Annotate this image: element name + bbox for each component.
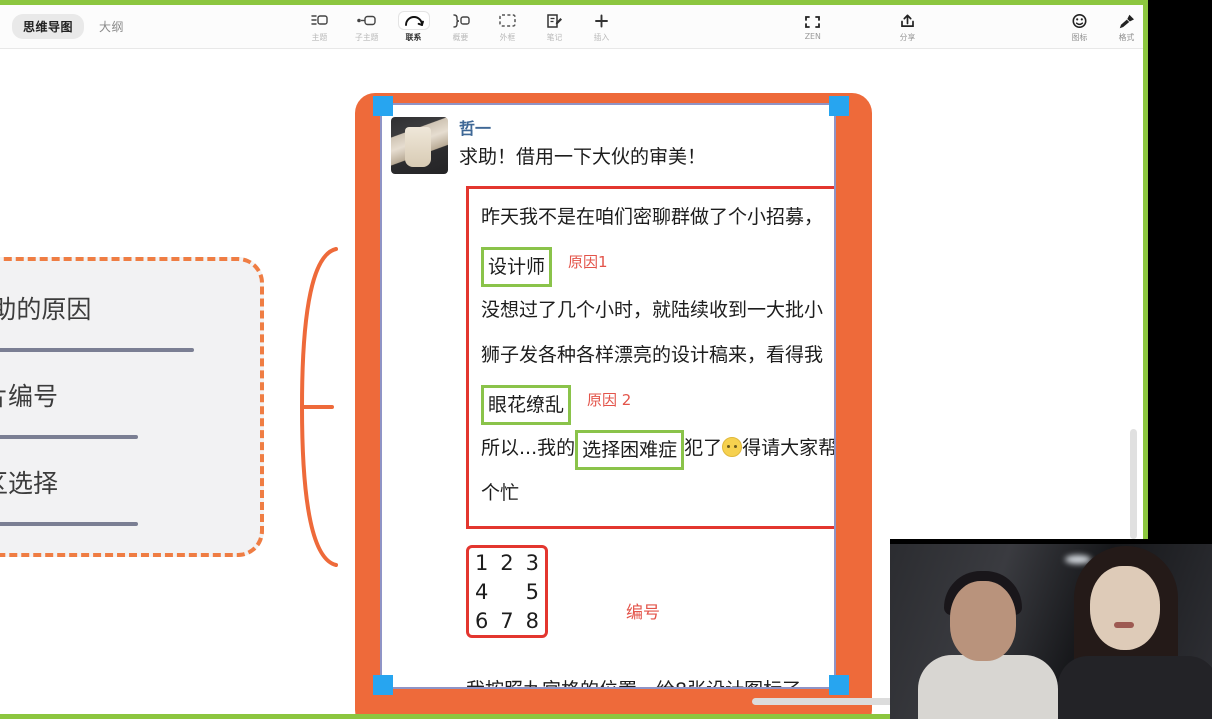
paragraph-1-line2: 设计师原因1 xyxy=(481,240,834,288)
grid-cell: 3 xyxy=(526,551,539,575)
webcam-top-edge xyxy=(890,539,1212,544)
mindmap-boundary-group[interactable]: 头像/求助的原因 参考照片编号 举评论区选择 xyxy=(0,257,264,557)
annotation-numbering: 编号 xyxy=(626,598,660,623)
view-mode-switch[interactable]: 思维导图 大纲 xyxy=(12,14,135,39)
resize-handle-bottom-left[interactable] xyxy=(373,675,393,695)
tool-boundary[interactable]: 外框 xyxy=(484,5,531,49)
grid-cell: 8 xyxy=(526,609,539,633)
summary-icon xyxy=(446,12,476,29)
brush-icon xyxy=(1113,12,1140,30)
note-icon xyxy=(541,12,568,30)
post-header: 哲一 求助！借用一下大伙的审美！ xyxy=(382,113,834,174)
tool-relation-label: 联系 xyxy=(406,31,422,42)
person-left xyxy=(914,569,1064,719)
avatar xyxy=(391,117,448,174)
tool-topic-label: 主题 xyxy=(312,31,328,42)
tool-icon-picker-label: 图标 xyxy=(1072,31,1088,42)
paragraph-2-line2: 狮子发各种各样漂亮的设计稿来，看得我 xyxy=(481,333,834,378)
tail-line1: 我按照九宫格的位置，给8张设计图标了 xyxy=(466,668,834,687)
post-title: 求助！借用一下大伙的审美！ xyxy=(459,140,706,174)
highlight-designer: 设计师 xyxy=(481,247,552,287)
annotation-reason-2: 原因 2 xyxy=(587,378,631,423)
tab-mindmap[interactable]: 思维导图 xyxy=(12,14,84,39)
paragraph-3-post: 犯了 xyxy=(684,437,722,459)
tool-group-center: 主题 子主题 联系 概要 xyxy=(296,5,625,49)
paragraph-3-line2: 个忙 xyxy=(481,471,834,516)
post-content: 哲一 求助！借用一下大伙的审美！ 昨天我不是在咱们密聊群做了个小招募， 设计师原… xyxy=(382,105,834,687)
number-grid: 1 2 3 4 5 6 7 8 xyxy=(466,545,548,638)
post-screenshot: 哲一 求助！借用一下大伙的审美！ 昨天我不是在咱们密聊群做了个小招募， 设计师原… xyxy=(380,103,836,689)
tab-outline[interactable]: 大纲 xyxy=(88,14,135,39)
fullscreen-icon xyxy=(799,13,826,31)
emoji-icon xyxy=(1066,12,1093,30)
tool-subtopic[interactable]: 子主题 xyxy=(343,5,390,49)
mindmap-node-photo-number-label: 参考照片编号 xyxy=(0,368,260,426)
mindmap-node-reason[interactable]: 头像/求助的原因 xyxy=(0,281,260,368)
post-author: 哲一 xyxy=(459,118,706,140)
resize-handle-top-right[interactable] xyxy=(829,96,849,116)
tool-subtopic-label: 子主题 xyxy=(355,31,378,42)
node-underline xyxy=(0,522,138,526)
subtopic-icon xyxy=(352,12,382,29)
mindmap-node-list: 头像/求助的原因 参考照片编号 举评论区选择 xyxy=(0,281,260,542)
tool-icon-picker[interactable]: 图标 xyxy=(1056,5,1103,49)
paragraph-3-post2: 得请大家帮 xyxy=(742,437,834,459)
tool-note[interactable]: 笔记 xyxy=(531,5,578,49)
node-underline xyxy=(0,348,194,352)
tool-note-label: 笔记 xyxy=(547,31,563,42)
mindmap-node-photo-number[interactable]: 参考照片编号 xyxy=(0,368,260,455)
resize-handle-bottom-right[interactable] xyxy=(829,675,849,695)
insert-plus-icon xyxy=(588,12,615,30)
tool-share-label: 分享 xyxy=(900,31,916,42)
highlight-indecision: 选择困难症 xyxy=(575,430,684,470)
selected-image-node[interactable]: 哲一 求助！借用一下大伙的审美！ 昨天我不是在咱们密聊群做了个小招募， 设计师原… xyxy=(355,93,872,719)
grid-cell: 7 xyxy=(500,609,513,633)
toolbar: 思维导图 大纲 主题 子主题 联系 xyxy=(0,5,1143,49)
tool-insert-label: 插入 xyxy=(594,31,610,42)
branch-connector xyxy=(262,245,344,569)
tool-group-right: 图标 格式 xyxy=(1056,5,1148,49)
tool-zen-label: ZEN xyxy=(804,32,820,41)
tool-boundary-label: 外框 xyxy=(500,31,516,42)
tool-topic[interactable]: 主题 xyxy=(296,5,343,49)
topic-icon xyxy=(306,12,333,29)
node-underline xyxy=(0,435,138,439)
horizontal-scrollbar[interactable] xyxy=(752,698,907,705)
tool-format[interactable]: 格式 xyxy=(1103,5,1148,49)
tool-format-label: 格式 xyxy=(1119,31,1135,42)
paragraph-2-line1: 没想过了几个小时，就陆续收到一大批小 xyxy=(481,288,834,333)
grid-cell: 2 xyxy=(500,551,513,575)
speechless-emoji-icon xyxy=(722,437,742,457)
tool-insert[interactable]: 插入 xyxy=(578,5,625,49)
tool-summary-label: 概要 xyxy=(453,31,469,42)
mindmap-node-comment-choice[interactable]: 举评论区选择 xyxy=(0,455,260,542)
post-tail: 我按照九宫格的位置，给8张设计图标了 号，这8张里，你最喜欢哪2个？引导选择 等… xyxy=(466,668,834,687)
grid-cell: 4 xyxy=(475,580,488,604)
tool-relation[interactable]: 联系 xyxy=(390,5,437,49)
annotation-reason-1: 原因1 xyxy=(568,240,608,285)
paragraph-3-pre: 所以...我的 xyxy=(481,437,575,459)
tool-summary[interactable]: 概要 xyxy=(437,5,484,49)
webcam-overlay[interactable] xyxy=(890,539,1212,719)
tool-share[interactable]: 分享 xyxy=(884,5,931,49)
mindmap-node-comment-choice-label: 举评论区选择 xyxy=(0,455,260,513)
paragraph-2-line3: 眼花缭乱原因 2 xyxy=(481,378,834,426)
grid-cell: 1 xyxy=(475,551,488,575)
share-upload-icon xyxy=(894,12,921,30)
vertical-scrollbar[interactable] xyxy=(1130,429,1137,539)
resize-handle-top-left[interactable] xyxy=(373,96,393,116)
paragraph-3-line1: 所以...我的选择困难症犯了得请大家帮 xyxy=(481,426,834,471)
post-body-redbox: 昨天我不是在咱们密聊群做了个小招募， 设计师原因1 没想过了几个小时，就陆续收到… xyxy=(466,186,834,529)
relation-icon xyxy=(399,12,429,29)
grid-cell: 6 xyxy=(475,609,488,633)
paragraph-1-line1: 昨天我不是在咱们密聊群做了个小招募， xyxy=(481,195,834,240)
mindmap-node-reason-label: 头像/求助的原因 xyxy=(0,281,260,339)
grid-cell: 5 xyxy=(526,580,539,604)
highlight-dazzled: 眼花缭乱 xyxy=(481,385,571,425)
person-right xyxy=(1058,544,1212,719)
number-grid-row: 1 2 3 4 5 6 7 8 编号 xyxy=(466,545,834,638)
boundary-icon xyxy=(494,12,521,29)
tool-zen[interactable]: ZEN xyxy=(789,5,836,49)
